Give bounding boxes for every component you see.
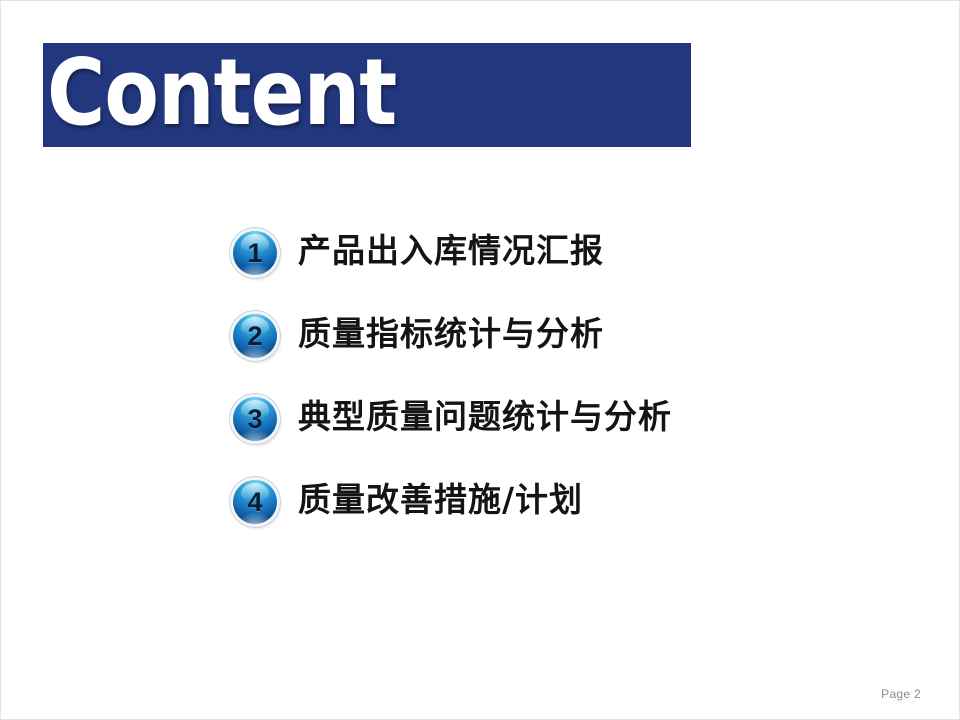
badge-number: 2 [247, 323, 262, 350]
badge-number: 4 [247, 489, 262, 516]
content-item-label: 质量指标统计与分析 [298, 312, 604, 356]
list-item[interactable]: 4 质量改善措施/计划 [233, 478, 933, 561]
content-item-label: 产品出入库情况汇报 [298, 229, 604, 273]
page-title: Content [47, 47, 396, 139]
number-badge-icon: 3 [233, 397, 277, 441]
list-item[interactable]: 3 典型质量问题统计与分析 [233, 395, 933, 478]
list-item[interactable]: 1 产品出入库情况汇报 [233, 229, 933, 312]
slide-canvas: Content 1 产品出入库情况汇报 2 质量指标统计与分析 3 典型质量问题… [0, 0, 960, 720]
number-badge-icon: 1 [233, 231, 277, 275]
content-list: 1 产品出入库情况汇报 2 质量指标统计与分析 3 典型质量问题统计与分析 4 … [233, 229, 933, 561]
badge-number: 1 [247, 240, 262, 267]
title-banner: Content [43, 43, 691, 147]
list-item[interactable]: 2 质量指标统计与分析 [233, 312, 933, 395]
content-item-label: 典型质量问题统计与分析 [298, 395, 672, 439]
number-badge-icon: 2 [233, 314, 277, 358]
number-badge-icon: 4 [233, 480, 277, 524]
badge-number: 3 [247, 406, 262, 433]
content-item-label: 质量改善措施/计划 [298, 478, 583, 522]
page-number-footer: Page 2 [881, 687, 921, 701]
